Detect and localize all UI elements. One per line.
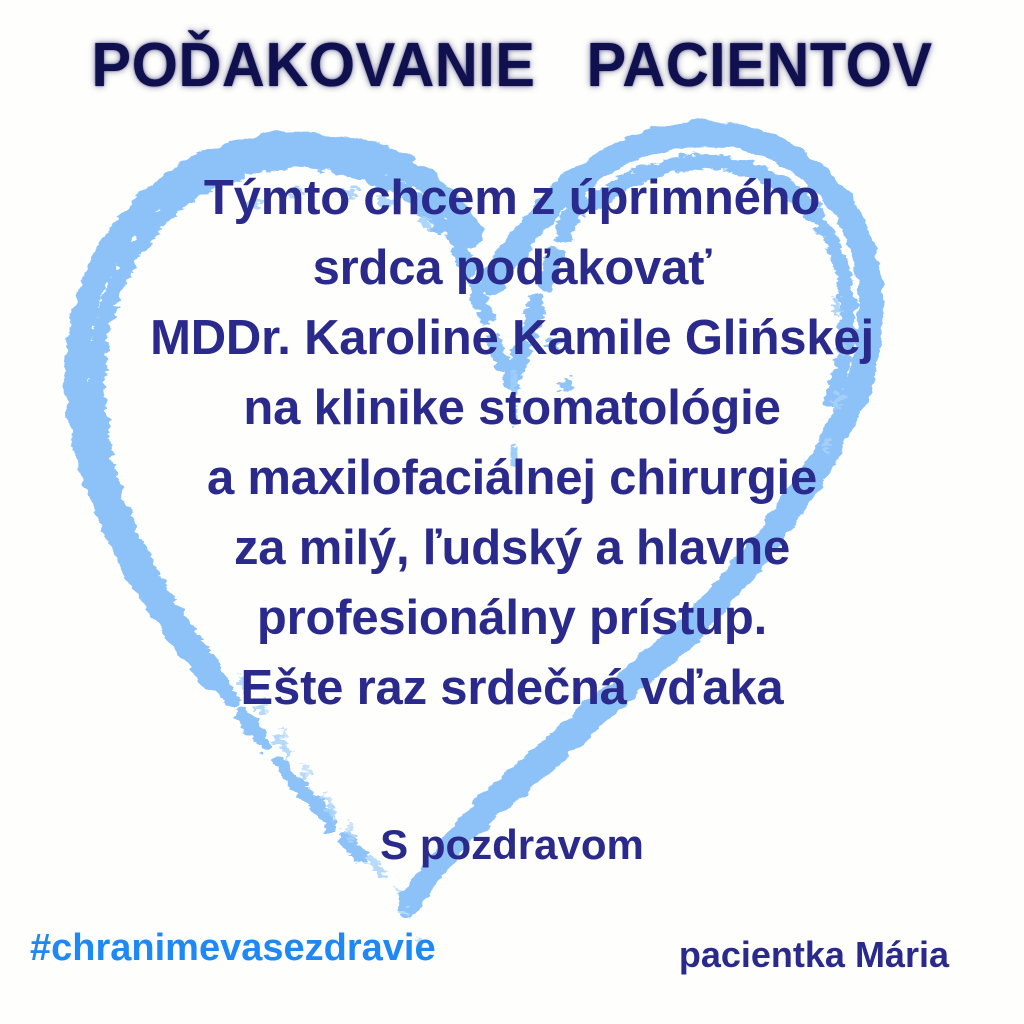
thank-you-message: Týmto chcem z úprimného srdca poďakovať … xyxy=(0,163,1024,723)
message-line: na klinike stomatológie xyxy=(0,373,1024,443)
heart-bottom-left-fragments-2 xyxy=(262,700,404,900)
message-line: profesionálny prístup. xyxy=(0,583,1024,653)
footer: #chranimevasezdravie pacientka Mária xyxy=(0,925,1024,995)
message-line: Týmto chcem z úprimného xyxy=(0,163,1024,233)
message-line: a maxilofaciálnej chirurgie xyxy=(0,443,1024,513)
message-line: Ešte raz srdečná vďaka xyxy=(0,653,1024,723)
page-title: POĎAKOVANIE PACIENTOV xyxy=(20,33,1003,99)
message-line: MDDr. Karoline Kamile Glińskej xyxy=(0,303,1024,373)
patient-signature: pacientka Mária xyxy=(679,933,949,977)
campaign-hashtag: #chranimevasezdravie xyxy=(30,925,436,971)
signoff-text: S pozdravom xyxy=(0,820,1024,870)
message-line: za milý, ľudský a hlavne xyxy=(0,513,1024,583)
thank-you-card: POĎAKOVANIE PACIENTOV Týmto chcem z úpri… xyxy=(0,0,1024,1024)
message-line: srdca poďakovať xyxy=(0,233,1024,303)
